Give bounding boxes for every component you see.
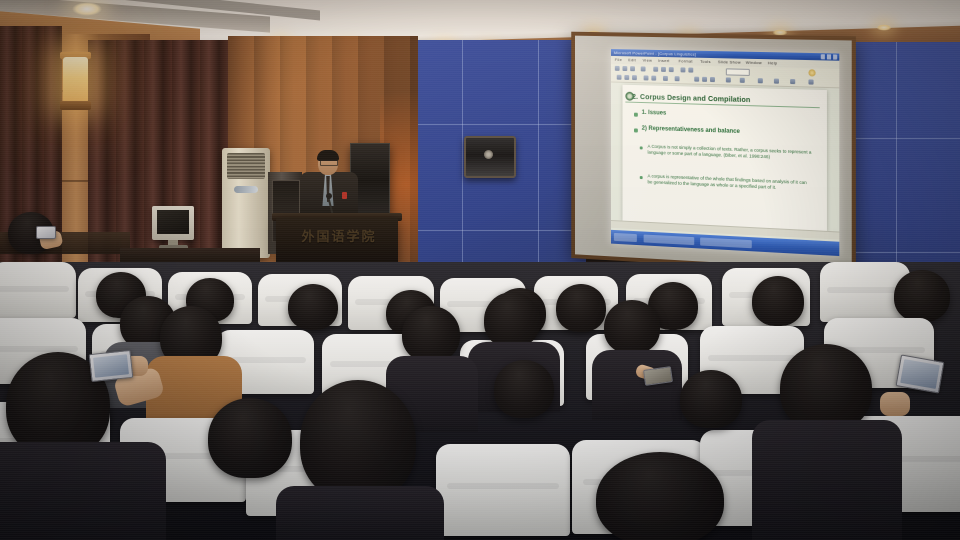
tile-grid-line — [840, 138, 960, 139]
copy-icon[interactable] — [661, 67, 666, 72]
bullet-list-icon[interactable] — [663, 76, 668, 81]
menu-item-slideshow[interactable]: Slide Show — [718, 59, 741, 65]
print-icon[interactable] — [641, 66, 646, 71]
bullet-marker — [640, 146, 643, 149]
taskbar-window-button[interactable] — [700, 237, 752, 248]
chart-icon[interactable] — [758, 78, 763, 83]
redo-icon[interactable] — [688, 68, 693, 73]
arrow-icon[interactable] — [710, 77, 715, 82]
animation-icon[interactable] — [808, 79, 813, 84]
textbox-icon[interactable] — [726, 77, 731, 82]
phone-screen — [900, 359, 940, 389]
podium-sign: 外国语学院 — [286, 226, 392, 245]
menu-item-edit[interactable]: Edit — [628, 57, 636, 62]
underline-icon[interactable] — [632, 75, 637, 80]
bold-icon[interactable] — [617, 75, 622, 80]
tile-grid-line — [840, 252, 960, 253]
attendee-torso-foreground — [0, 442, 166, 540]
menu-item-window[interactable]: Window — [746, 60, 762, 65]
speaker-driver-icon — [484, 150, 493, 159]
shape-icon[interactable] — [694, 77, 699, 82]
seat-chair-cover — [0, 262, 76, 318]
menu-item-view[interactable]: View — [643, 58, 652, 63]
taskbar-window-button[interactable] — [644, 235, 695, 246]
bullet-marker — [640, 176, 643, 179]
attendee-torso-foreground — [276, 486, 444, 540]
new-document-icon[interactable] — [615, 66, 620, 71]
save-icon[interactable] — [630, 66, 635, 71]
microphone-head-icon — [326, 193, 332, 199]
tile-grid-line — [418, 124, 586, 125]
menu-item-tools[interactable]: Tools — [700, 59, 711, 64]
attendee-hand — [880, 392, 910, 416]
slide-bullet-4: A corpus is representative of the whole … — [647, 173, 812, 192]
projection-screen-frame: Microsoft PowerPoint - [Corpus Linguisti… — [571, 32, 856, 275]
paste-icon[interactable] — [669, 67, 674, 72]
seat-chair-cover — [436, 444, 570, 536]
wordart-icon[interactable] — [740, 78, 745, 83]
presenter-glasses-icon — [320, 160, 338, 166]
attendee-head — [484, 292, 540, 348]
attendee-head-foreground — [596, 452, 724, 540]
attendee-head-foreground — [780, 344, 872, 432]
cut-icon[interactable] — [653, 67, 658, 72]
help-icon[interactable] — [808, 69, 815, 76]
slide-bullet-3: A Corpus is not simply a collection of t… — [647, 144, 812, 162]
attendee-phone-foreground[interactable] — [89, 350, 134, 382]
taskbar-start-button[interactable] — [614, 233, 637, 242]
attendee-head — [604, 300, 660, 354]
italic-icon[interactable] — [624, 75, 629, 80]
attendee-head — [556, 284, 606, 332]
slide-bullet-1: 1. Issues — [642, 110, 667, 117]
window-title: Microsoft PowerPoint - [Corpus Linguisti… — [614, 50, 696, 57]
attendee-head — [680, 370, 742, 428]
open-folder-icon[interactable] — [622, 66, 627, 71]
font-color-icon[interactable] — [675, 76, 680, 81]
attendee-head-foreground — [300, 380, 416, 502]
projection-screen: Microsoft PowerPoint - [Corpus Linguisti… — [575, 36, 852, 270]
tile-grid-line — [418, 230, 586, 231]
attendee-head — [208, 398, 292, 478]
slide-bullet-2: 2) Representativeness and balance — [642, 126, 740, 135]
phone-screen — [93, 354, 129, 377]
window-controls[interactable] — [821, 54, 837, 59]
line-icon[interactable] — [702, 77, 707, 82]
picture-icon[interactable] — [790, 79, 795, 84]
undo-icon[interactable] — [681, 67, 686, 72]
wall-sconce-light — [63, 57, 88, 103]
attendee-head — [402, 306, 460, 362]
air-conditioner-grill — [227, 153, 265, 179]
presenter-badge — [342, 192, 347, 199]
slide-canvas[interactable]: 2. Corpus Design and Compilation 1. Issu… — [622, 85, 826, 231]
bullet-marker — [634, 113, 638, 117]
align-left-icon[interactable] — [644, 75, 649, 80]
menu-item-format[interactable]: Format — [679, 58, 693, 63]
ceiling-downlight — [72, 2, 102, 16]
bullet-marker — [634, 128, 638, 132]
wall-sconce-base — [60, 101, 91, 110]
lecture-hall-photo: Microsoft PowerPoint - [Corpus Linguisti… — [0, 0, 960, 540]
projected-application-window[interactable]: Microsoft PowerPoint - [Corpus Linguisti… — [611, 49, 839, 256]
attendee-head — [752, 276, 804, 326]
attendee-torso-foreground — [752, 420, 902, 540]
air-conditioner-badge — [234, 186, 258, 193]
menu-item-insert[interactable]: Insert — [658, 58, 669, 63]
attendee-head — [288, 284, 338, 330]
ceiling-downlight — [876, 24, 892, 31]
attendee-torso — [592, 350, 682, 420]
menu-item-help[interactable]: Help — [768, 60, 778, 65]
attendee-head — [494, 360, 554, 418]
align-center-icon[interactable] — [651, 76, 656, 81]
table-icon[interactable] — [774, 79, 779, 84]
menu-item-file[interactable]: File — [615, 57, 622, 62]
attendee-phone[interactable] — [36, 226, 56, 239]
confidence-monitor-screen — [157, 210, 189, 234]
attendee-head — [894, 270, 950, 322]
